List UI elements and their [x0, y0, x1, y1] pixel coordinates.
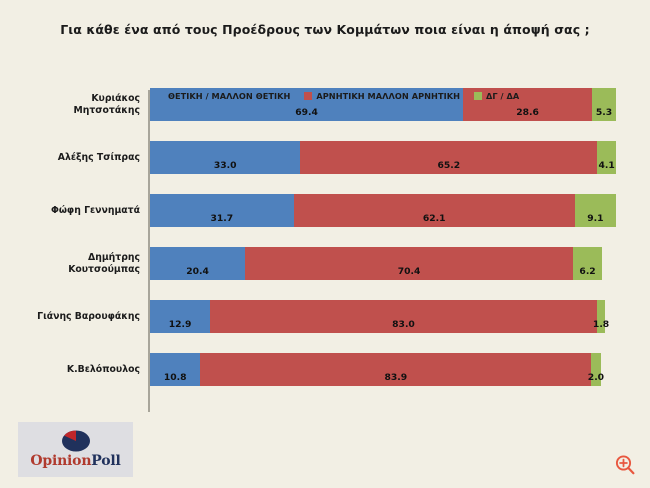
- bar-segment-positive[interactable]: 33.0: [150, 141, 300, 174]
- stacked-bar: 33.0 65.2 4.1: [150, 141, 616, 174]
- plot-area: ΘΕΤΙΚΗ / ΜΑΛΛΟΝ ΘΕΤΙΚΗ ΑΡΝΗΤΙΚΗ ΜΑΛΛΟΝ Α…: [8, 78, 642, 423]
- stacked-bar: 20.4 70.4 6.2: [150, 247, 616, 280]
- bar-value-dont-know: 2.0: [588, 372, 604, 386]
- page-title: Για κάθε ένα από τους Προέδρους των Κομμ…: [0, 22, 650, 37]
- bar-segment-dont-know[interactable]: 9.1: [575, 194, 616, 227]
- bar-value-negative: 65.2: [437, 160, 460, 174]
- pie-chart-logo-icon: [61, 430, 91, 452]
- bar-segment-negative[interactable]: 70.4: [245, 247, 573, 280]
- bar-segment-negative[interactable]: 62.1: [294, 194, 575, 227]
- category-label: Φώφη Γεννηματά: [8, 184, 142, 237]
- category-label-line: Μητσοτάκης: [74, 105, 141, 117]
- bar-row[interactable]: Δημήτρης Κουτσούμπας 20.4 70.4 6.2: [8, 237, 642, 290]
- bar-segment-positive[interactable]: 12.9: [150, 300, 210, 333]
- bar-value-positive: 12.9: [169, 319, 192, 333]
- bar-series-container: Κυριάκος Μητσοτάκης 69.4 28.6 5.3: [8, 78, 642, 423]
- bar-value-negative: 70.4: [398, 266, 421, 280]
- legend-label-dont-know: ΔΓ / ΔΑ: [486, 91, 519, 101]
- bar-segment-dont-know[interactable]: 6.2: [573, 247, 602, 280]
- bar-segment-positive[interactable]: 10.8: [150, 353, 200, 386]
- logo-text-poll: Poll: [91, 453, 120, 469]
- category-label: Γιάνης Βαρουφάκης: [8, 290, 142, 343]
- legend-item-positive[interactable]: ΘΕΤΙΚΗ / ΜΑΛΛΟΝ ΘΕΤΙΚΗ: [156, 91, 290, 101]
- category-label: Δημήτρης Κουτσούμπας: [8, 237, 142, 290]
- category-label-line: Αλέξης Τσίπρας: [58, 152, 140, 164]
- bar-segment-positive[interactable]: 31.7: [150, 194, 294, 227]
- bar-value-positive: 33.0: [214, 160, 237, 174]
- bar-value-negative: 28.6: [516, 107, 539, 121]
- logo-wordmark: OpinionPoll: [30, 453, 120, 469]
- legend-swatch-negative-icon: [304, 92, 312, 100]
- bar-segment-dont-know[interactable]: 2.0: [591, 353, 600, 386]
- chart-legend: ΘΕΤΙΚΗ / ΜΑΛΛΟΝ ΘΕΤΙΚΗ ΑΡΝΗΤΙΚΗ ΜΑΛΛΟΝ Α…: [156, 88, 519, 103]
- bar-row[interactable]: Φώφη Γεννηματά 31.7 62.1 9.1: [8, 184, 642, 237]
- bar-segment-positive[interactable]: 20.4: [150, 247, 245, 280]
- category-label: Αλέξης Τσίπρας: [8, 131, 142, 184]
- opinionpoll-logo: OpinionPoll: [18, 422, 133, 477]
- bar-value-dont-know: 5.3: [596, 107, 612, 121]
- category-label-line: Κυριάκος: [91, 93, 140, 105]
- bar-value-negative: 62.1: [423, 213, 446, 227]
- bar-value-dont-know: 9.1: [587, 213, 603, 227]
- bar-value-dont-know: 1.8: [593, 319, 609, 333]
- bar-row[interactable]: Κυριάκος Μητσοτάκης 69.4 28.6 5.3: [8, 78, 642, 131]
- bar-value-positive: 31.7: [210, 213, 233, 227]
- legend-swatch-positive-icon: [156, 92, 164, 100]
- bar-value-dont-know: 4.1: [599, 160, 615, 174]
- bar-value-negative: 83.9: [384, 372, 407, 386]
- legend-label-positive: ΘΕΤΙΚΗ / ΜΑΛΛΟΝ ΘΕΤΙΚΗ: [168, 91, 290, 101]
- bar-row[interactable]: Κ.Βελόπουλος 10.8 83.9 2.0: [8, 343, 642, 396]
- category-label-line: Κ.Βελόπουλος: [67, 364, 140, 376]
- bar-value-positive: 69.4: [295, 107, 318, 121]
- bar-value-positive: 20.4: [186, 266, 209, 280]
- bar-row[interactable]: Αλέξης Τσίπρας 33.0 65.2 4.1: [8, 131, 642, 184]
- chart-page: Για κάθε ένα από τους Προέδρους των Κομμ…: [0, 0, 650, 488]
- category-label-line: Κουτσούμπας: [68, 264, 140, 276]
- legend-item-negative[interactable]: ΑΡΝΗΤΙΚΗ ΜΑΛΛΟΝ ΑΡΝΗΤΙΚΗ: [304, 91, 460, 101]
- stacked-bar: 12.9 83.0 1.8: [150, 300, 616, 333]
- bar-segment-dont-know[interactable]: 5.3: [592, 88, 616, 121]
- legend-item-dont-know[interactable]: ΔΓ / ΔΑ: [474, 91, 519, 101]
- bar-value-dont-know: 6.2: [579, 266, 595, 280]
- legend-swatch-dont-know-icon: [474, 92, 482, 100]
- category-label: Κυριάκος Μητσοτάκης: [8, 78, 142, 131]
- bar-segment-negative[interactable]: 83.0: [210, 300, 597, 333]
- bar-segment-dont-know[interactable]: 1.8: [597, 300, 605, 333]
- category-label-line: Γιάνης Βαρουφάκης: [37, 311, 140, 323]
- zoom-in-icon[interactable]: [614, 454, 636, 476]
- category-label: Κ.Βελόπουλος: [8, 343, 142, 396]
- bar-segment-dont-know[interactable]: 4.1: [597, 141, 616, 174]
- bar-row[interactable]: Γιάνης Βαρουφάκης 12.9 83.0 1.8: [8, 290, 642, 343]
- legend-label-negative: ΑΡΝΗΤΙΚΗ ΜΑΛΛΟΝ ΑΡΝΗΤΙΚΗ: [316, 91, 460, 101]
- logo-text-opinion: Opinion: [30, 453, 91, 469]
- bar-value-positive: 10.8: [164, 372, 187, 386]
- bar-value-negative: 83.0: [392, 319, 415, 333]
- category-label-line: Δημήτρης: [88, 252, 140, 264]
- stacked-bar: 10.8 83.9 2.0: [150, 353, 616, 386]
- stacked-bar: 31.7 62.1 9.1: [150, 194, 616, 227]
- bar-segment-negative[interactable]: 83.9: [200, 353, 591, 386]
- bar-segment-negative[interactable]: 65.2: [300, 141, 597, 174]
- category-label-line: Φώφη Γεννηματά: [51, 205, 140, 217]
